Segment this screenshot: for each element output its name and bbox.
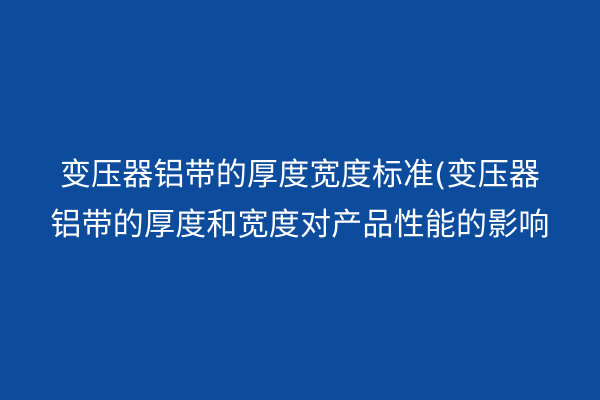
title-card: 变压器铝带的厚度宽度标准(变压器 铝带的厚度和宽度对产品性能的影响	[0, 0, 600, 400]
page-title: 变压器铝带的厚度宽度标准(变压器 铝带的厚度和宽度对产品性能的影响	[0, 150, 600, 250]
title-line-1: 变压器铝带的厚度宽度标准(变压器	[20, 150, 580, 200]
title-line-2: 铝带的厚度和宽度对产品性能的影响	[20, 200, 580, 250]
